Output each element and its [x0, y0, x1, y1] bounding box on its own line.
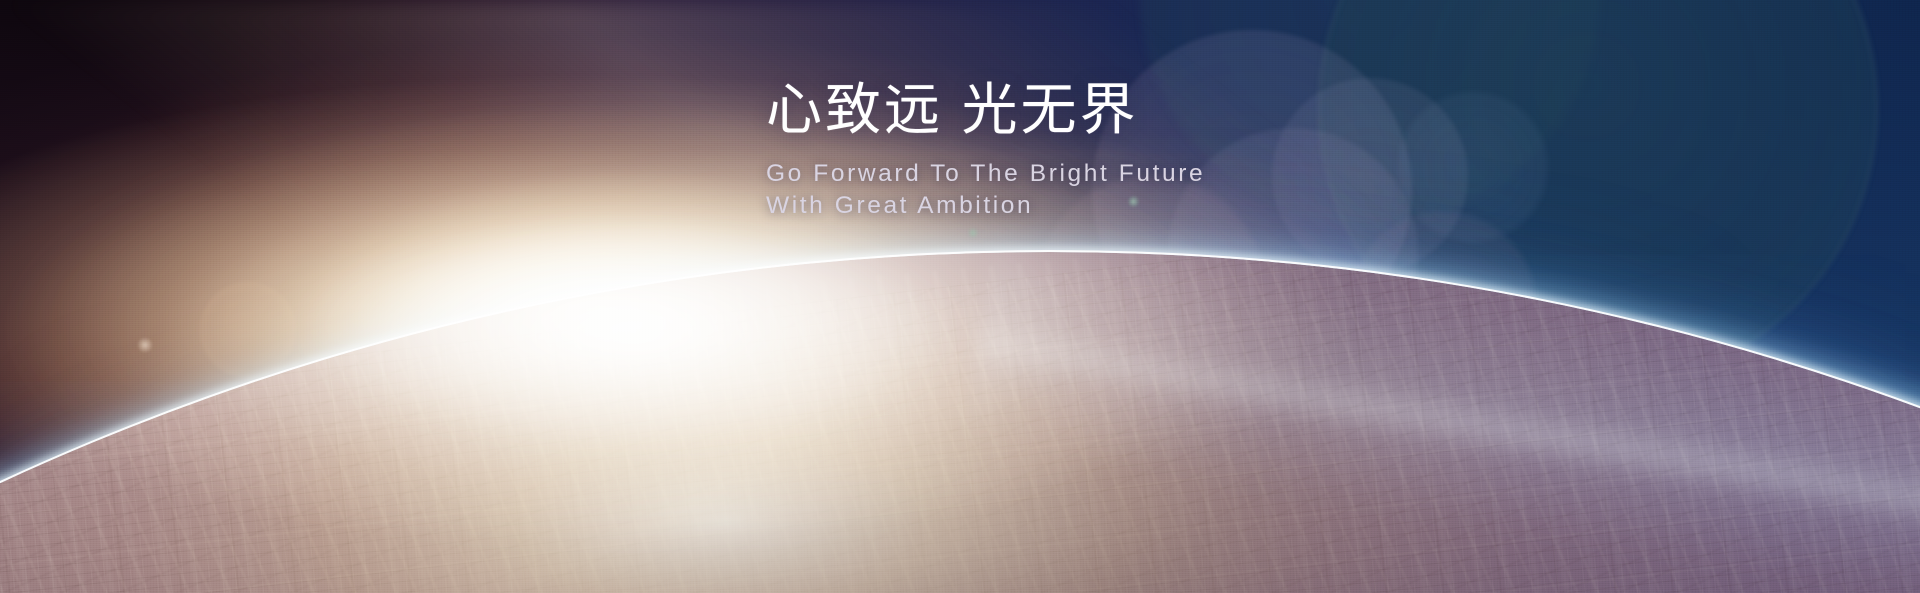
hero-subtitle-line-2: With Great Ambition: [766, 190, 1466, 222]
hero-banner: 心致远 光无界 Go Forward To The Bright Future …: [0, 0, 1920, 593]
hero-subtitle: Go Forward To The Bright Future With Gre…: [766, 142, 1466, 222]
hero-headline: 心致远 光无界: [766, 78, 1466, 142]
hero-subtitle-line-1: Go Forward To The Bright Future: [766, 158, 1466, 190]
hero-copy-block: 心致远 光无界 Go Forward To The Bright Future …: [766, 78, 1466, 222]
atmosphere-limb-ring: [0, 252, 1920, 593]
